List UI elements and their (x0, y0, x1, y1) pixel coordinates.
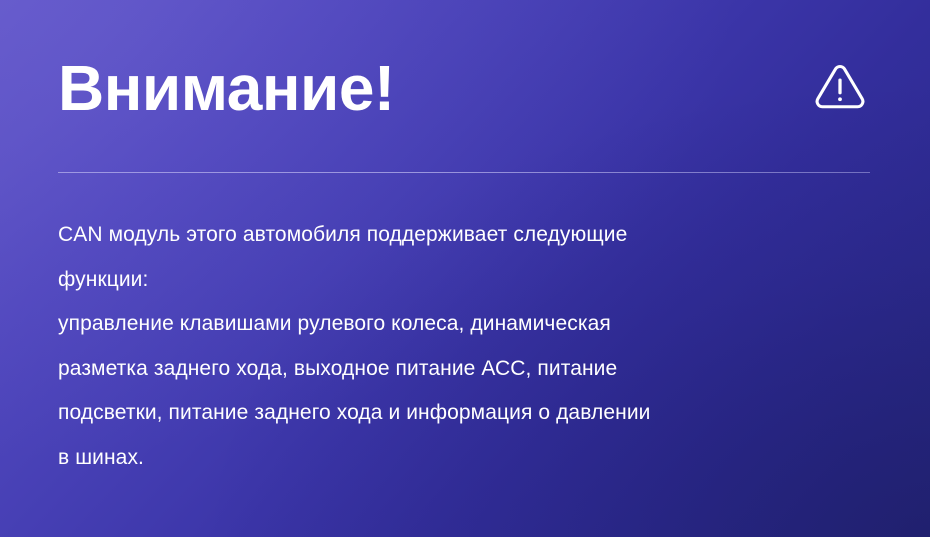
warning-triangle-icon (810, 56, 870, 116)
body-line: функции: (58, 258, 872, 303)
body-line: разметка заднего хода, выходное питание … (58, 347, 872, 392)
notice-body-text: CAN модуль этого автомобиля поддерживает… (58, 173, 872, 480)
notice-inner: Внимание! CAN модуль этого автомобиля по… (0, 0, 930, 537)
body-line: в шинах. (58, 436, 872, 481)
body-line: управление клавишами рулевого колеса, ди… (58, 302, 872, 347)
body-line: CAN модуль этого автомобиля поддерживает… (58, 213, 872, 258)
body-line: подсветки, питание заднего хода и информ… (58, 391, 872, 436)
page-title: Внимание! (58, 56, 395, 120)
warning-notice-card: Внимание! CAN модуль этого автомобиля по… (0, 0, 930, 537)
notice-header: Внимание! (58, 0, 872, 172)
